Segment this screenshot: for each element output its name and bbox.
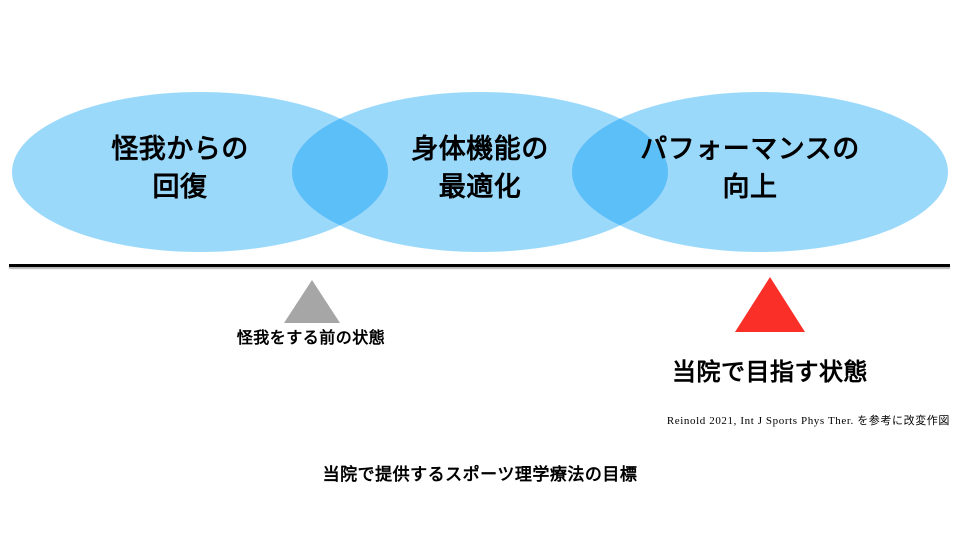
venn-label-recovery-line2: 回復	[60, 168, 300, 206]
baseline-axis	[9, 264, 950, 267]
slide-caption: 当院で提供するスポーツ理学療法の目標	[180, 460, 780, 485]
venn-label-recovery-line1: 怪我からの	[60, 130, 300, 168]
target-state-label: 当院で目指す状態	[620, 352, 920, 387]
venn-label-performance-line1: パフォーマンスの	[620, 130, 880, 168]
venn-label-function-line1: 身体機能の	[370, 130, 590, 168]
slide-canvas: 怪我からの 回復 身体機能の 最適化 パフォーマンスの 向上 怪我をする前の状態…	[0, 0, 960, 540]
venn-diagram	[0, 0, 960, 540]
venn-label-performance: パフォーマンスの 向上	[620, 130, 880, 206]
target-state-triangle-marker-icon	[735, 277, 805, 332]
citation-text: Reinold 2021, Int J Sports Phys Ther. を参…	[550, 412, 950, 428]
venn-label-function-line2: 最適化	[370, 168, 590, 206]
pre-injury-label: 怪我をする前の状態	[161, 324, 461, 348]
pre-injury-triangle-marker-icon	[284, 280, 340, 323]
venn-label-recovery: 怪我からの 回復	[60, 130, 300, 206]
venn-label-function: 身体機能の 最適化	[370, 130, 590, 206]
venn-label-performance-line2: 向上	[620, 168, 880, 206]
